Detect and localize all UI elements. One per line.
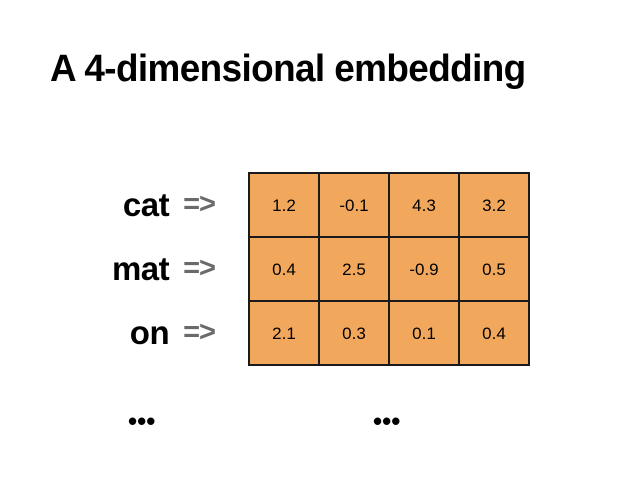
matrix-cell: 0.3 [319, 301, 389, 365]
matrix-cell: 0.1 [389, 301, 459, 365]
word-label-row-cat: cat => [0, 172, 224, 236]
maps-to-arrow-icon-on: => [183, 318, 215, 347]
matrix-cell: 2.1 [249, 301, 319, 365]
word-label-row-on: on => [0, 300, 224, 364]
matrix-cell: 4.3 [389, 173, 459, 237]
matrix-cell: -0.9 [389, 237, 459, 301]
word-labels-column: cat => mat => on => [0, 172, 224, 364]
matrix-cell: -0.1 [319, 173, 389, 237]
matrix-cell: 0.5 [459, 237, 529, 301]
slide-canvas: A 4-dimensional embedding cat => mat => … [0, 0, 638, 484]
maps-to-arrow-icon-mat: => [183, 254, 215, 283]
table-row: 2.1 0.3 0.1 0.4 [249, 301, 529, 365]
word-label-on: on [130, 316, 169, 349]
matrix-cell: 0.4 [249, 237, 319, 301]
matrix-cell: 0.4 [459, 301, 529, 365]
matrix-cell: 3.2 [459, 173, 529, 237]
word-label-row-mat: mat => [0, 236, 224, 300]
matrix-cell: 2.5 [319, 237, 389, 301]
word-label-cat: cat [123, 188, 169, 221]
table-row: 1.2 -0.1 4.3 3.2 [249, 173, 529, 237]
embedding-block: cat => mat => on => 1.2 -0.1 4.3 3.2 [0, 172, 638, 364]
maps-to-arrow-icon-cat: => [183, 190, 215, 219]
ellipsis-words: ••• [128, 408, 155, 434]
ellipsis-vectors: ••• [373, 408, 400, 434]
word-label-mat: mat [112, 252, 169, 285]
table-row: 0.4 2.5 -0.9 0.5 [249, 237, 529, 301]
page-title: A 4-dimensional embedding [50, 46, 593, 92]
matrix-cell: 1.2 [249, 173, 319, 237]
embedding-matrix: 1.2 -0.1 4.3 3.2 0.4 2.5 -0.9 0.5 2.1 0.… [248, 172, 530, 366]
